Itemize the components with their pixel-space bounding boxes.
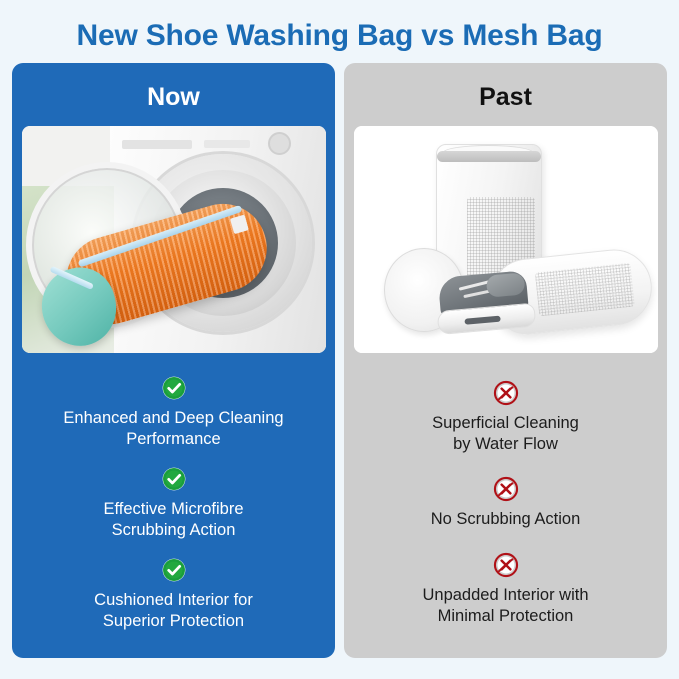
panel-past: Past [344,63,667,658]
green-check-icon [161,466,187,492]
mesh-texture [534,263,634,317]
sneaker-air-vent [464,316,500,325]
red-cross-icon [493,476,519,502]
panel-past-header: Past [479,63,532,126]
panel-past-photo [354,126,658,353]
feature-label: Cushioned Interior for Superior Protecti… [94,590,253,632]
feature-item: No Scrubbing Action [354,476,657,530]
feature-item: Enhanced and Deep Cleaning Performance [22,375,325,450]
feature-label: Enhanced and Deep Cleaning Performance [63,408,283,450]
feature-label: Superficial Cleaning by Water Flow [432,413,579,455]
washing-machine-control-panel [122,140,192,149]
feature-item: Effective Microfibre Scrubbing Action [22,466,325,541]
feature-item: Superficial Cleaning by Water Flow [354,380,657,455]
sneaker-collar [485,272,525,297]
bag-label-tag [229,215,248,235]
washing-machine-photo [22,126,326,353]
comparison-infographic: New Shoe Washing Bag vs Mesh Bag Now [0,0,679,679]
feature-item: Unpadded Interior with Minimal Protectio… [354,552,657,627]
green-check-icon [161,557,187,583]
panel-now: Now [12,63,335,658]
bag-end-zipper [49,266,93,290]
mesh-bag-rim [437,151,541,162]
red-cross-icon [493,552,519,578]
feature-label: No Scrubbing Action [431,509,581,530]
mesh-bags-photo [354,126,658,353]
green-check-icon [161,375,187,401]
washing-machine-dial-icon [268,132,291,155]
comparison-panels: Now [0,52,679,658]
page-title: New Shoe Washing Bag vs Mesh Bag [0,0,679,52]
panel-now-header: Now [147,63,200,126]
red-cross-icon [493,380,519,406]
panel-past-feature-list: Superficial Cleaning by Water Flow No Sc… [344,353,667,658]
grey-sneaker [433,270,534,334]
feature-label: Effective Microfibre Scrubbing Action [104,499,244,541]
panel-now-photo [22,126,326,353]
feature-item: Cushioned Interior for Superior Protecti… [22,557,325,632]
washing-machine-display [204,140,250,148]
feature-label: Unpadded Interior with Minimal Protectio… [422,585,588,627]
panel-now-feature-list: Enhanced and Deep Cleaning Performance E… [12,353,335,658]
